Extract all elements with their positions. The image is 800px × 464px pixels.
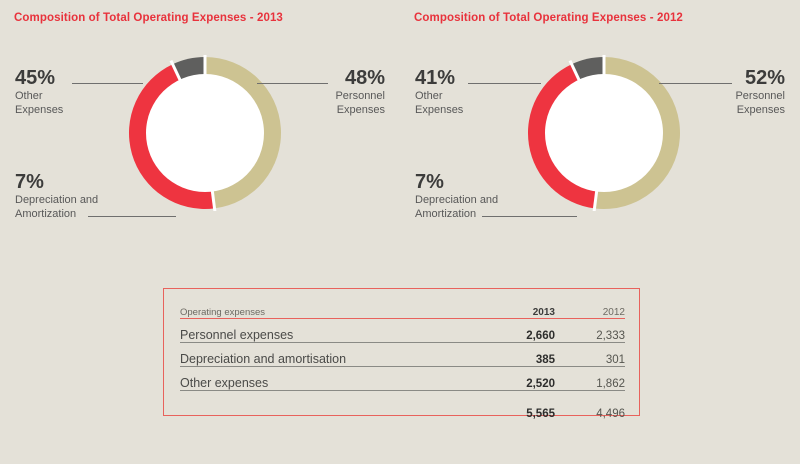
donut-hole xyxy=(146,74,264,192)
total-value-previous: 4,496 xyxy=(555,391,625,421)
callout-label-line2: Expenses xyxy=(735,103,785,117)
table-body: Personnel expenses 2,660 2,333 Depreciat… xyxy=(180,319,625,421)
callout-percent: 48% xyxy=(335,68,385,89)
row-value-previous: 1,862 xyxy=(555,367,625,391)
chart-title-2013: Composition of Total Operating Expenses … xyxy=(14,12,283,24)
callout-label-line2: Amortization xyxy=(415,207,498,221)
table-head: Operating expenses 2013 2012 xyxy=(180,298,625,319)
callout-percent: 7% xyxy=(15,172,98,193)
chart-title-2012: Composition of Total Operating Expenses … xyxy=(414,12,683,24)
callout-label-line1: Other xyxy=(415,89,463,103)
table-row: Depreciation and amortisation 385 301 xyxy=(180,343,625,367)
row-value-previous: 301 xyxy=(555,343,625,367)
callout-percent: 52% xyxy=(735,68,785,89)
row-value-previous: 2,333 xyxy=(555,319,625,343)
row-value-current: 2,520 xyxy=(477,367,555,391)
leader-line-personnel xyxy=(257,83,328,84)
leader-line-other xyxy=(468,83,541,84)
row-value-current: 2,660 xyxy=(477,319,555,343)
donut-chart-2012 xyxy=(526,55,682,211)
callout-label-line2: Expenses xyxy=(335,103,385,117)
leader-line-other xyxy=(72,83,143,84)
chart-panel-2013: Composition of Total Operating Expenses … xyxy=(0,0,400,260)
row-label: Depreciation and amortisation xyxy=(180,343,477,367)
callout-label-line1: Personnel xyxy=(335,89,385,103)
row-label: Other expenses xyxy=(180,367,477,391)
callout-percent: 41% xyxy=(415,68,463,89)
callout-other-2012: 41% Other Expenses xyxy=(415,68,463,117)
callout-percent: 7% xyxy=(415,172,498,193)
table-row: Other expenses 2,520 1,862 xyxy=(180,367,625,391)
total-label xyxy=(180,391,477,421)
callout-label-line2: Amortization xyxy=(15,207,98,221)
row-value-current: 385 xyxy=(477,343,555,367)
callout-label-line2: Expenses xyxy=(415,103,463,117)
table-header-year-previous: 2012 xyxy=(555,298,625,319)
total-value-current: 5,565 xyxy=(477,391,555,421)
callout-personnel-2013: 48% Personnel Expenses xyxy=(335,68,385,117)
donut-svg-2012 xyxy=(526,55,682,211)
callout-label-line2: Expenses xyxy=(15,103,63,117)
chart-panel-2012: Composition of Total Operating Expenses … xyxy=(400,0,800,260)
callout-label-line1: Other xyxy=(15,89,63,103)
table-row: Personnel expenses 2,660 2,333 xyxy=(180,319,625,343)
donut-hole xyxy=(545,74,663,192)
table-header-row: Operating expenses 2013 2012 xyxy=(180,298,625,319)
operating-expenses-table: Operating expenses 2013 2012 Personnel e… xyxy=(180,298,625,420)
leader-line-depreciation xyxy=(88,216,176,217)
callout-depreciation-2012: 7% Depreciation and Amortization xyxy=(415,172,498,221)
callout-personnel-2012: 52% Personnel Expenses xyxy=(735,68,785,117)
callout-label-line1: Depreciation and xyxy=(415,193,498,207)
table-total-row: 5,565 4,496 xyxy=(180,391,625,421)
leader-line-personnel xyxy=(659,83,732,84)
callout-percent: 45% xyxy=(15,68,63,89)
row-label: Personnel expenses xyxy=(180,319,477,343)
table-header-label: Operating expenses xyxy=(180,298,477,319)
callout-label-line1: Personnel xyxy=(735,89,785,103)
callout-other-2013: 45% Other Expenses xyxy=(15,68,63,117)
donut-chart-2013 xyxy=(127,55,283,211)
callout-label-line1: Depreciation and xyxy=(15,193,98,207)
table-header-year-current: 2013 xyxy=(477,298,555,319)
operating-expenses-table-box: Operating expenses 2013 2012 Personnel e… xyxy=(163,288,640,416)
infographic-page: Composition of Total Operating Expenses … xyxy=(0,0,800,464)
donut-svg-2013 xyxy=(127,55,283,211)
callout-depreciation-2013: 7% Depreciation and Amortization xyxy=(15,172,98,221)
